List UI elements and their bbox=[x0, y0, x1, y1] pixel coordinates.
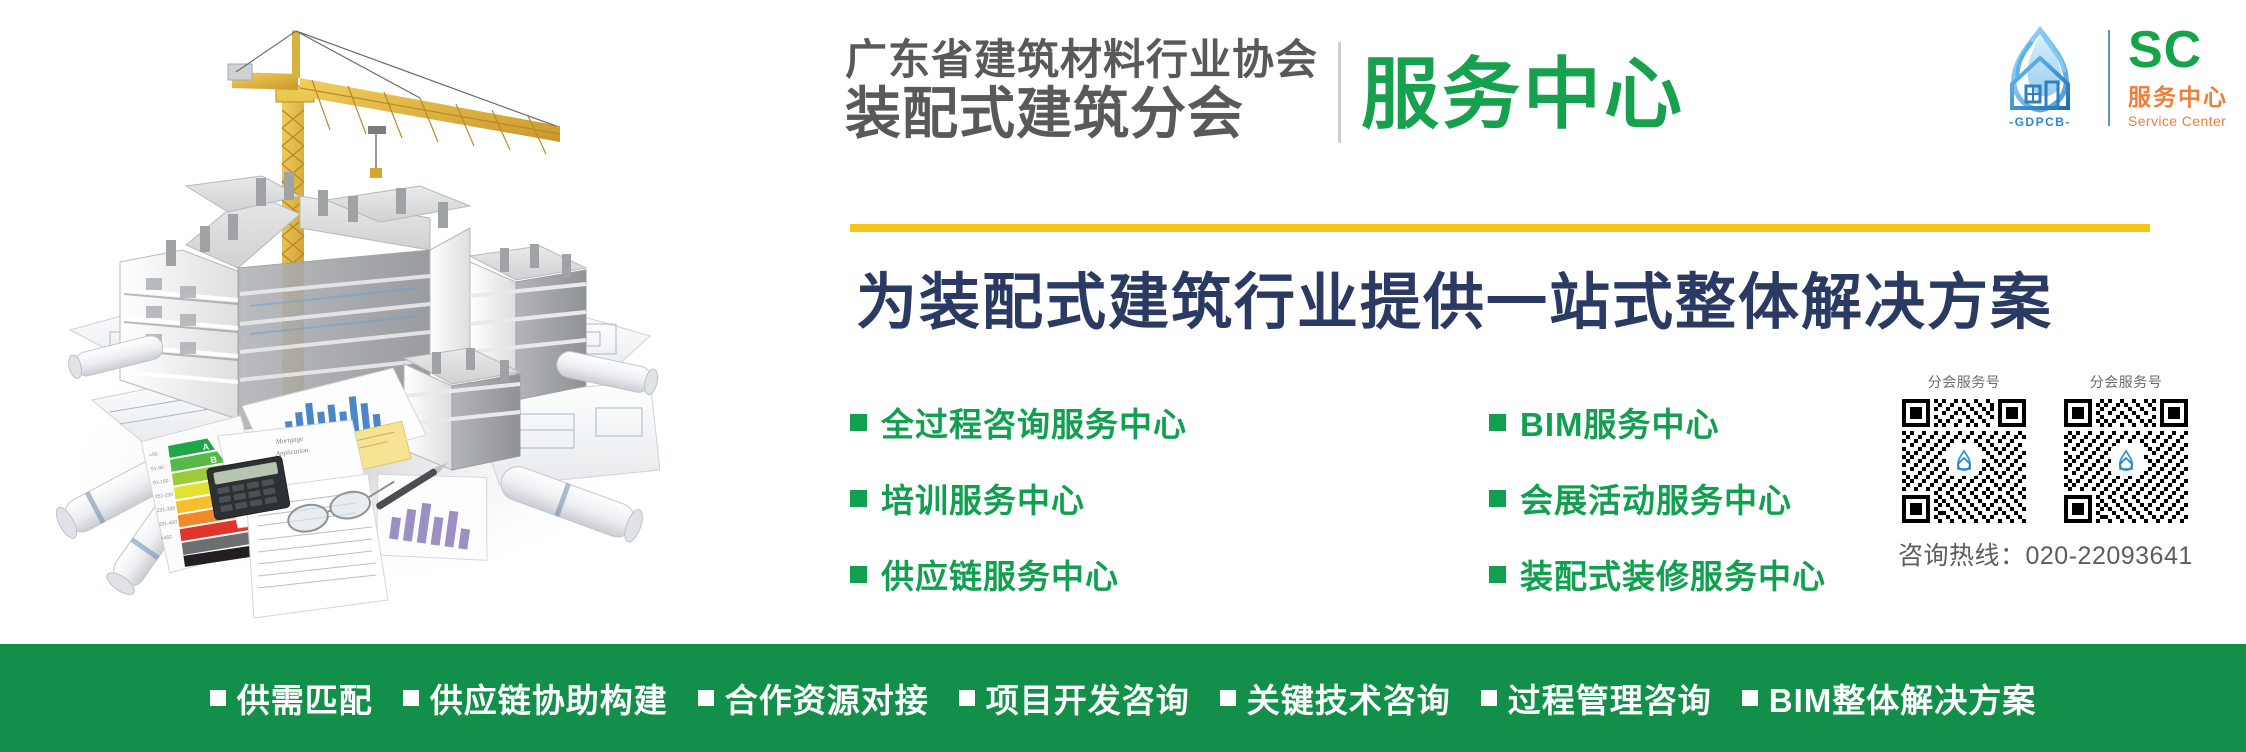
service-item[interactable]: 培训服务中心 bbox=[850, 474, 1187, 522]
footer-item-label: 过程管理咨询 bbox=[1508, 674, 1712, 722]
footer-item-label: 项目开发咨询 bbox=[986, 674, 1190, 722]
gold-divider bbox=[850, 224, 2150, 232]
service-center-heading: 服务中心 bbox=[1361, 38, 1685, 151]
hero-illustration: ABC DEF GHI <5051-9091-150 151-230231-33… bbox=[0, 0, 660, 640]
sc-logo-text: SC 服务中心 Service Center bbox=[2124, 27, 2228, 129]
service-item-label: 装配式装修服务中心 bbox=[1520, 550, 1826, 598]
service-item[interactable]: 供应链服务中心 bbox=[850, 550, 1187, 598]
association-line2: 装配式建筑分会 bbox=[845, 85, 1318, 144]
square-bullet-icon bbox=[403, 690, 419, 706]
construction-scene-svg: ABC DEF GHI <5051-9091-150 151-230231-33… bbox=[0, 0, 660, 640]
brand-logo: -GDPCB- SC 服务中心 Service Center bbox=[1986, 22, 2228, 134]
footer-item[interactable]: 项目开发咨询 bbox=[959, 674, 1190, 722]
square-bullet-icon bbox=[1220, 690, 1236, 706]
square-bullet-icon bbox=[850, 490, 867, 507]
brand-divider bbox=[2108, 30, 2110, 126]
footer-item[interactable]: 关键技术咨询 bbox=[1220, 674, 1451, 722]
service-item-label: 培训服务中心 bbox=[881, 474, 1085, 522]
footer-item[interactable]: BIM整体解决方案 bbox=[1742, 674, 2037, 722]
sc-letters: SC bbox=[2128, 27, 2202, 75]
square-bullet-icon bbox=[850, 566, 867, 583]
service-item[interactable]: 全过程咨询服务中心 bbox=[850, 398, 1187, 446]
footer-item-label: BIM整体解决方案 bbox=[1769, 674, 2037, 722]
association-name: 广东省建筑材料行业协会 装配式建筑分会 bbox=[845, 38, 1318, 151]
service-item[interactable]: BIM服务中心 bbox=[1489, 398, 1826, 446]
footer-item-label: 供需匹配 bbox=[237, 674, 373, 722]
service-column-left: 全过程咨询服务中心 培训服务中心 供应链服务中心 bbox=[850, 398, 1187, 598]
service-column-right: BIM服务中心 会展活动服务中心 装配式装修服务中心 bbox=[1299, 398, 1826, 598]
square-bullet-icon bbox=[959, 690, 975, 706]
square-bullet-icon bbox=[850, 414, 867, 431]
service-item[interactable]: 会展活动服务中心 bbox=[1489, 474, 1826, 522]
svg-text:<50: <50 bbox=[149, 452, 158, 459]
footer-item[interactable]: 合作资源对接 bbox=[698, 674, 929, 722]
brand-mark-text: -GDPCB- bbox=[2009, 115, 2071, 129]
content-area: -GDPCB- SC 服务中心 Service Center 广东省建筑材料行业… bbox=[660, 0, 2246, 640]
qr-caption: 分会服务号 bbox=[1928, 372, 2001, 392]
footer-item-label: 关键技术咨询 bbox=[1247, 674, 1451, 722]
association-line1: 广东省建筑材料行业协会 bbox=[845, 38, 1318, 83]
tagline: 为装配式建筑行业提供一站式整体解决方案 bbox=[856, 252, 2053, 341]
square-bullet-icon bbox=[210, 690, 226, 706]
service-item-label: 会展活动服务中心 bbox=[1520, 474, 1792, 522]
qr-code-image[interactable] bbox=[2064, 399, 2188, 523]
headline-block: 广东省建筑材料行业协会 装配式建筑分会 服务中心 bbox=[845, 38, 1685, 151]
qr-code-image[interactable] bbox=[1902, 399, 2026, 523]
qr-contact-block: 分会服务号 bbox=[1898, 372, 2218, 572]
service-item[interactable]: 装配式装修服务中心 bbox=[1489, 550, 1826, 598]
service-item-label: 供应链服务中心 bbox=[881, 550, 1119, 598]
sc-english-label: Service Center bbox=[2128, 113, 2226, 129]
service-center-banner: ABC DEF GHI <5051-9091-150 151-230231-33… bbox=[0, 0, 2246, 752]
square-bullet-icon bbox=[1489, 566, 1506, 583]
square-bullet-icon bbox=[1481, 690, 1497, 706]
headline-divider bbox=[1338, 42, 1341, 143]
footer-service-bar: 供需匹配 供应链协助构建 合作资源对接 项目开发咨询 关键技术咨询 过程管理咨询… bbox=[0, 644, 2246, 752]
bar-chart-printout-purple bbox=[367, 462, 499, 570]
qr-caption: 分会服务号 bbox=[2090, 372, 2163, 392]
flame-house-icon bbox=[1949, 446, 1979, 476]
square-bullet-icon bbox=[1489, 414, 1506, 431]
footer-item[interactable]: 过程管理咨询 bbox=[1481, 674, 1712, 722]
square-bullet-icon bbox=[698, 690, 714, 706]
footer-item-label: 合作资源对接 bbox=[725, 674, 929, 722]
hotline-text: 咨询热线：020-22093641 bbox=[1898, 536, 2218, 572]
service-item-label: 全过程咨询服务中心 bbox=[881, 398, 1187, 446]
square-bullet-icon bbox=[1489, 490, 1506, 507]
qr-code-item[interactable]: 分会服务号 bbox=[2060, 372, 2192, 523]
flame-house-icon bbox=[2111, 446, 2141, 476]
footer-item[interactable]: 供应链协助构建 bbox=[403, 674, 668, 722]
flame-house-icon: -GDPCB- bbox=[1986, 24, 2094, 132]
qr-code-item[interactable]: 分会服务号 bbox=[1898, 372, 2030, 523]
service-center-list: 全过程咨询服务中心 培训服务中心 供应链服务中心 BIM服务中心 bbox=[850, 398, 1826, 598]
footer-item[interactable]: 供需匹配 bbox=[210, 674, 373, 722]
service-item-label: BIM服务中心 bbox=[1520, 398, 1720, 446]
square-bullet-icon bbox=[1742, 690, 1758, 706]
sc-chinese-label: 服务中心 bbox=[2128, 78, 2228, 112]
footer-item-label: 供应链协助构建 bbox=[430, 674, 668, 722]
